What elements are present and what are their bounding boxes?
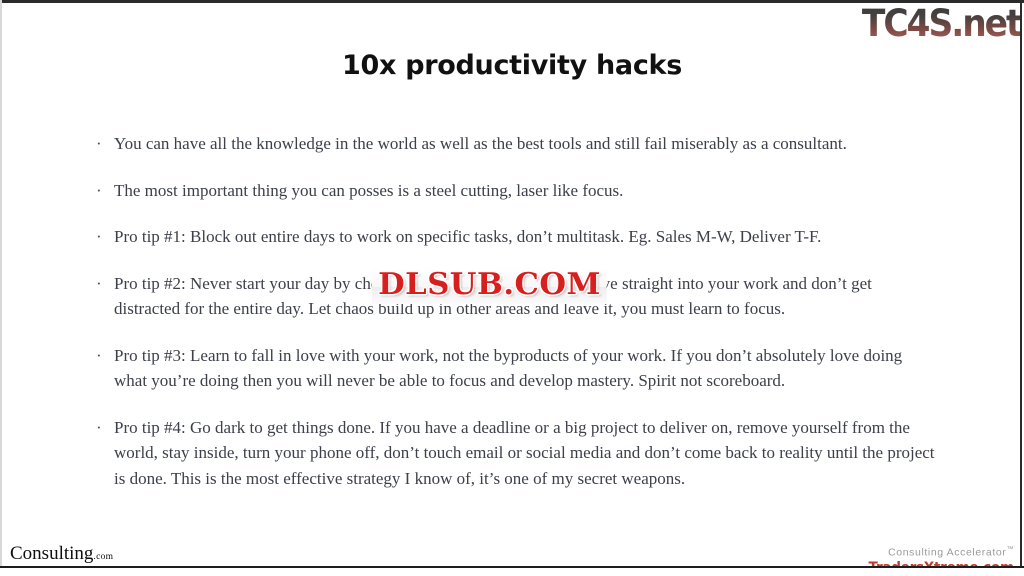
- bullet-icon: ·: [96, 131, 114, 157]
- bullet-icon: ·: [96, 343, 114, 369]
- list-item-text: Pro tip #4: Go dark to get things done. …: [114, 415, 936, 492]
- list-item: · Pro tip #4: Go dark to get things done…: [96, 415, 936, 492]
- list-item-text: Pro tip #3: Learn to fall in love with y…: [114, 343, 936, 394]
- list-item: · Pro tip #3: Learn to fall in love with…: [96, 343, 936, 394]
- consulting-logo-name: Consulting: [10, 543, 93, 564]
- list-item-text: The most important thing you can posses …: [114, 178, 936, 204]
- bullet-icon: ·: [96, 178, 114, 204]
- trademark-icon: ™: [1006, 546, 1014, 553]
- bullet-icon: ·: [96, 224, 114, 250]
- consulting-logo-suffix: .com: [93, 552, 113, 562]
- bullet-icon: ·: [96, 415, 114, 441]
- list-item: · Pro tip #1: Block out entire days to w…: [96, 224, 936, 250]
- list-item: · The most important thing you can posse…: [96, 178, 936, 204]
- watermark-dlsub: DLSUB.COM: [372, 268, 607, 304]
- slide-body-bullet-list: · You can have all the knowledge in the …: [96, 131, 936, 512]
- list-item-text: Pro tip #1: Block out entire days to wor…: [114, 224, 936, 250]
- accelerator-text: Consulting Accelerator: [888, 547, 1006, 559]
- consulting-accelerator-label: Consulting Accelerator™: [864, 543, 1014, 560]
- slide-title: 10x productivity hacks: [0, 50, 1024, 81]
- list-item-text: You can have all the knowledge in the wo…: [114, 131, 936, 157]
- slide-bottom-band: [0, 568, 1024, 576]
- slide-left-border: [0, 0, 2, 576]
- bullet-icon: ·: [96, 271, 114, 297]
- watermark-tc4s: TC4S.net: [862, 2, 1020, 46]
- consulting-logo: Consulting.com: [10, 543, 113, 568]
- list-item: · You can have all the knowledge in the …: [96, 131, 936, 157]
- slide-right-border: [1020, 0, 1022, 576]
- presentation-slide: 10x productivity hacks · You can have al…: [0, 0, 1024, 576]
